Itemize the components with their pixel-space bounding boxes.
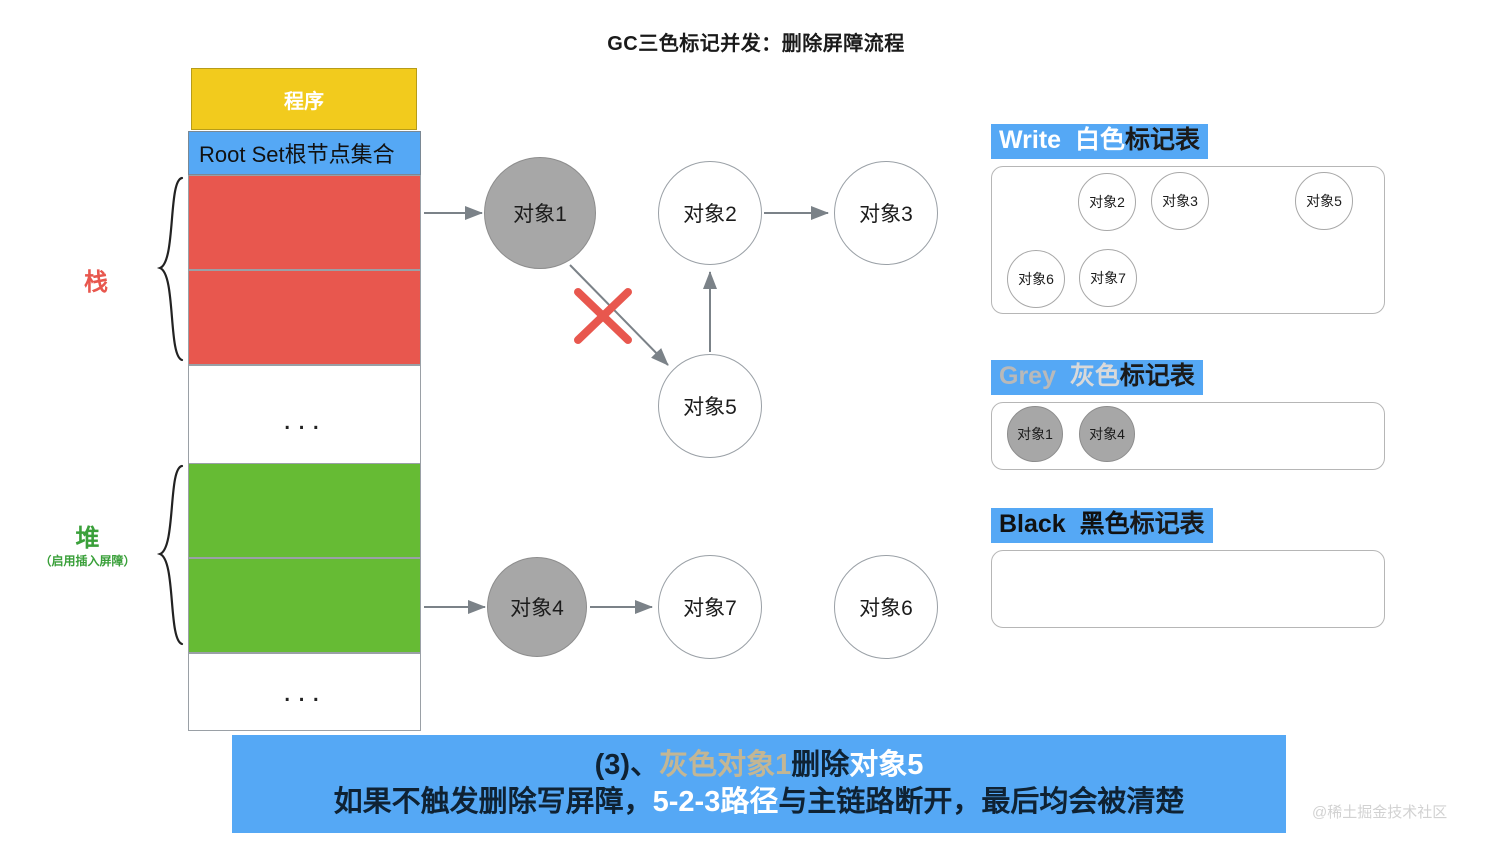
edge-obj1-to-obj5: [570, 265, 668, 365]
heap-ellipsis: ...: [189, 654, 420, 730]
graph-node-label: 对象7: [683, 592, 737, 622]
caption-banner: (3)、灰色对象1删除对象5 如果不触发删除写屏障，5-2-3路径与主链路断开，…: [232, 735, 1286, 833]
stack-slot-2: [188, 270, 421, 365]
graph-node-obj5[interactable]: 对象5: [658, 354, 762, 458]
grey-table-en: Grey: [999, 362, 1056, 390]
caption-seg: 与主链路断开，最后均会被清楚: [778, 786, 1184, 818]
stack-ellipsis: ...: [189, 366, 420, 474]
watermark: @稀土掘金技术社区: [1312, 801, 1447, 822]
graph-node-obj7[interactable]: 对象7: [658, 555, 762, 659]
black-mark-table-header: Black 黑色标记表: [991, 508, 1213, 543]
caption-line-1: (3)、灰色对象1删除对象5: [595, 747, 924, 784]
chip-label: 对象5: [1306, 191, 1342, 211]
caption-seg: (3)、: [595, 749, 659, 781]
grey-table-chip-obj4[interactable]: 对象4: [1079, 406, 1135, 462]
grey-table-cn: 灰色: [1070, 362, 1120, 390]
stack-ellipsis-slot: ...: [188, 365, 421, 475]
black-table-en: Black: [999, 510, 1066, 538]
grey-mark-table-header: Grey 灰色标记表: [991, 360, 1203, 395]
graph-node-label: 对象3: [859, 198, 913, 228]
chip-label: 对象6: [1018, 269, 1054, 289]
graph-node-label: 对象6: [859, 592, 913, 622]
graph-node-label: 对象5: [683, 391, 737, 421]
stack-slot-1: [188, 175, 421, 270]
white-table-chip-obj2[interactable]: 对象2: [1078, 173, 1136, 231]
black-mark-table: Black 黑色标记表: [991, 508, 1385, 628]
graph-node-obj2[interactable]: 对象2: [658, 161, 762, 265]
heap-label: 堆: [0, 518, 175, 553]
caption-line-2: 如果不触发删除写屏障，5-2-3路径与主链路断开，最后均会被清楚: [334, 784, 1185, 821]
stack-label: 栈: [84, 262, 108, 297]
caption-seg: 5-2-3路径: [653, 786, 779, 818]
black-table-tail: 标记表: [1130, 510, 1205, 538]
white-table-en: Write: [999, 126, 1061, 154]
root-set-label: Root Set根节点集合: [199, 137, 395, 169]
white-table-chip-obj7[interactable]: 对象7: [1079, 249, 1137, 307]
chip-label: 对象1: [1017, 424, 1053, 444]
chip-label: 对象3: [1162, 191, 1198, 211]
graph-node-obj1[interactable]: 对象1: [484, 157, 596, 269]
red-x-mark: [578, 292, 628, 340]
white-table-chip-obj5[interactable]: 对象5: [1295, 172, 1353, 230]
program-box: 程序: [191, 68, 417, 130]
graph-node-label: 对象2: [683, 198, 737, 228]
heap-sublabel: （启用插入屏障）: [0, 552, 175, 569]
page-title: GC三色标记并发：删除屏障流程: [0, 27, 1512, 56]
root-set-box: Root Set根节点集合: [188, 131, 421, 175]
graph-node-label: 对象4: [510, 592, 564, 622]
white-table-chip-obj3[interactable]: 对象3: [1151, 172, 1209, 230]
black-mark-table-body: [991, 550, 1385, 628]
white-table-cn: 白色: [1075, 126, 1125, 154]
chip-label: 对象4: [1089, 424, 1125, 444]
graph-node-obj4[interactable]: 对象4: [487, 557, 587, 657]
caption-seg: 删除: [791, 749, 849, 781]
graph-node-obj6[interactable]: 对象6: [834, 555, 938, 659]
graph-node-label: 对象1: [513, 198, 567, 228]
heap-slot-1: [188, 463, 421, 558]
diagram-canvas: GC三色标记并发：删除屏障流程 程序 Root Set根节点集合 ... ...…: [0, 0, 1512, 851]
chip-label: 对象2: [1089, 192, 1125, 212]
white-table-chip-obj6[interactable]: 对象6: [1007, 250, 1065, 308]
white-mark-table-header: Write 白色标记表: [991, 124, 1208, 159]
grey-table-chip-obj1[interactable]: 对象1: [1007, 406, 1063, 462]
program-label: 程序: [284, 85, 324, 114]
black-table-cn: 黑色: [1080, 510, 1130, 538]
caption-seg: 如果不触发删除写屏障，: [334, 786, 653, 818]
heap-slot-2: [188, 558, 421, 653]
chip-label: 对象7: [1090, 268, 1126, 288]
white-table-tail: 标记表: [1125, 126, 1200, 154]
caption-seg: 灰色对象1: [659, 749, 791, 781]
caption-seg: 对象5: [849, 749, 923, 781]
stack-brace: [160, 178, 182, 360]
heap-ellipsis-slot: ...: [188, 653, 421, 731]
graph-node-obj3[interactable]: 对象3: [834, 161, 938, 265]
grey-table-tail: 标记表: [1120, 362, 1195, 390]
